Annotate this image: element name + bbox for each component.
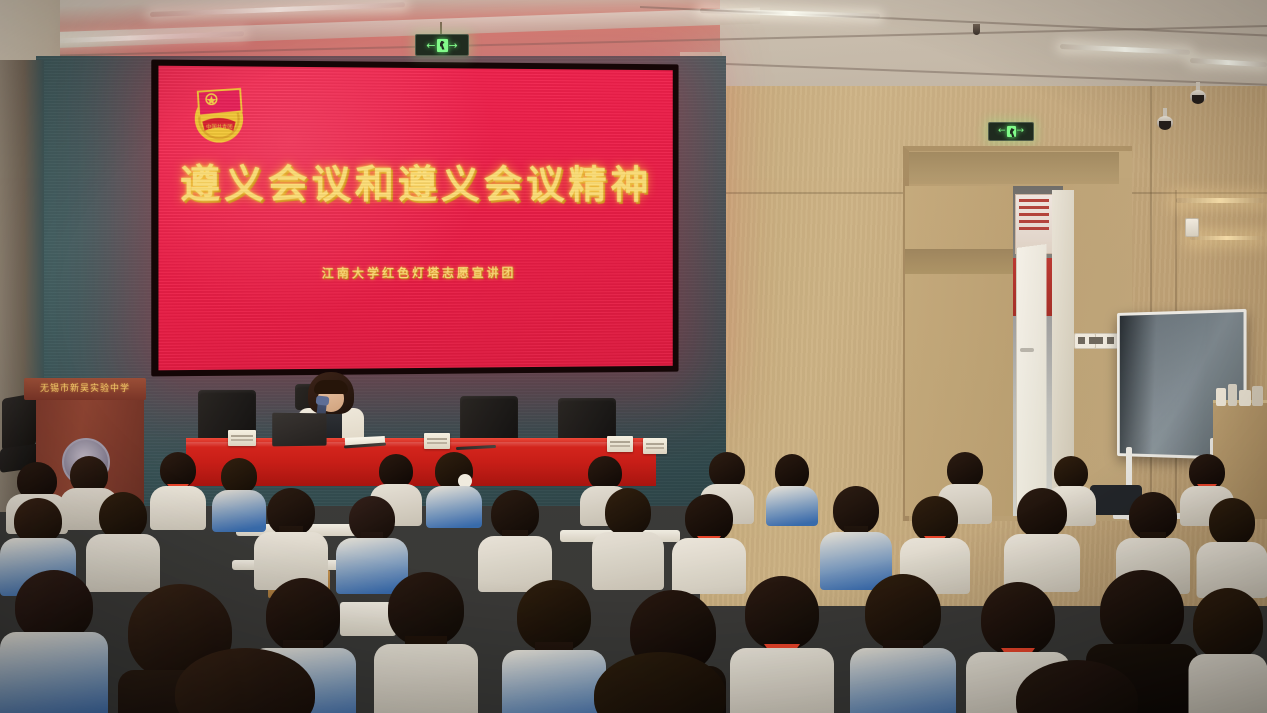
security-camera-corner (1190, 90, 1206, 103)
student-head (1100, 570, 1184, 652)
security-camera-right (1157, 116, 1173, 129)
led-panel-surface: 中国共青团 遵义会议和遵义会议精神 江南大学红色灯塔志愿宣讲团 (158, 66, 672, 371)
exit-sign-hanger-left (440, 22, 442, 34)
student-head (912, 496, 958, 542)
presenter-fringe (314, 380, 348, 394)
student-head (605, 488, 651, 536)
side-chair-back (2, 393, 36, 451)
student-torso (730, 648, 834, 713)
wall-power-outlet-2[interactable] (1074, 333, 1096, 349)
stage-led-screen[interactable]: 中国共青团 遵义会议和遵义会议精神 江南大学红色灯塔志愿宣讲团 (151, 60, 678, 377)
sprinkler-head (973, 24, 980, 35)
student-torso (766, 486, 818, 526)
exit-sign-right: ← → (988, 122, 1034, 141)
student-torso (426, 486, 482, 528)
cove-light-right (1176, 198, 1264, 203)
student-head (685, 494, 733, 542)
student-head (981, 582, 1055, 656)
student (0, 570, 108, 713)
cove-light-lower (1190, 236, 1264, 240)
student-torso (374, 644, 478, 713)
student-head (1209, 498, 1255, 546)
running-man-icon (437, 39, 448, 52)
exit-sign-left: ← → (415, 34, 469, 56)
name-card-1 (228, 430, 256, 446)
student (730, 576, 834, 713)
student-head (388, 572, 464, 646)
student (478, 490, 552, 588)
student-head (775, 454, 809, 490)
student (590, 652, 730, 713)
student-head (1054, 456, 1088, 490)
student-head (588, 456, 622, 490)
student-head (221, 458, 257, 494)
lectern-sign-text: 无锡市新吴实验中学 (30, 382, 140, 397)
student-torso (0, 632, 108, 713)
student (170, 648, 320, 713)
arrow-left-icon: ← (998, 127, 1006, 136)
name-card-2 (424, 433, 450, 449)
wall-sensor-box (1185, 218, 1199, 237)
student (850, 574, 956, 713)
student (1188, 588, 1267, 713)
student-head (745, 576, 819, 650)
wall-power-outlet[interactable] (1092, 333, 1120, 349)
student-head (1193, 588, 1263, 660)
student-audience (0, 452, 1267, 713)
student (1196, 498, 1267, 594)
arrow-left-icon: ← (426, 40, 435, 51)
arrow-right-icon: → (1017, 127, 1025, 136)
student-head (160, 452, 196, 488)
student-head (1017, 488, 1067, 538)
laptop[interactable] (272, 413, 326, 447)
student (426, 452, 482, 524)
student (374, 572, 478, 713)
student-torso (850, 648, 956, 713)
running-man-icon (1007, 126, 1016, 137)
student (592, 488, 664, 586)
student (1012, 660, 1142, 713)
student (820, 486, 892, 586)
youth-league-emblem-icon: 中国共青团 (181, 72, 257, 147)
arrow-right-icon: → (449, 40, 458, 51)
student-head (99, 492, 147, 540)
student (254, 488, 328, 586)
student-head (594, 652, 726, 713)
student-torso (1188, 654, 1267, 713)
student-head (379, 454, 413, 488)
student (766, 454, 818, 524)
lecture-hall-photo: 中国共青团 遵义会议和遵义会议精神 江南大学红色灯塔志愿宣讲团 ← → ← → (0, 0, 1267, 713)
student-head (1016, 660, 1138, 713)
student-head (947, 452, 983, 488)
student-head (865, 574, 941, 650)
led-subtitle: 江南大学红色灯塔志愿宣讲团 (158, 263, 672, 282)
name-card-3 (607, 436, 633, 452)
student (1004, 488, 1080, 588)
led-title: 遵义会议和遵义会议精神 (158, 153, 672, 210)
student-head (175, 648, 315, 713)
cabinet-clutter (1216, 382, 1266, 406)
door-transom (909, 152, 1119, 184)
door-handle[interactable] (1020, 348, 1034, 352)
student-head (709, 452, 745, 488)
